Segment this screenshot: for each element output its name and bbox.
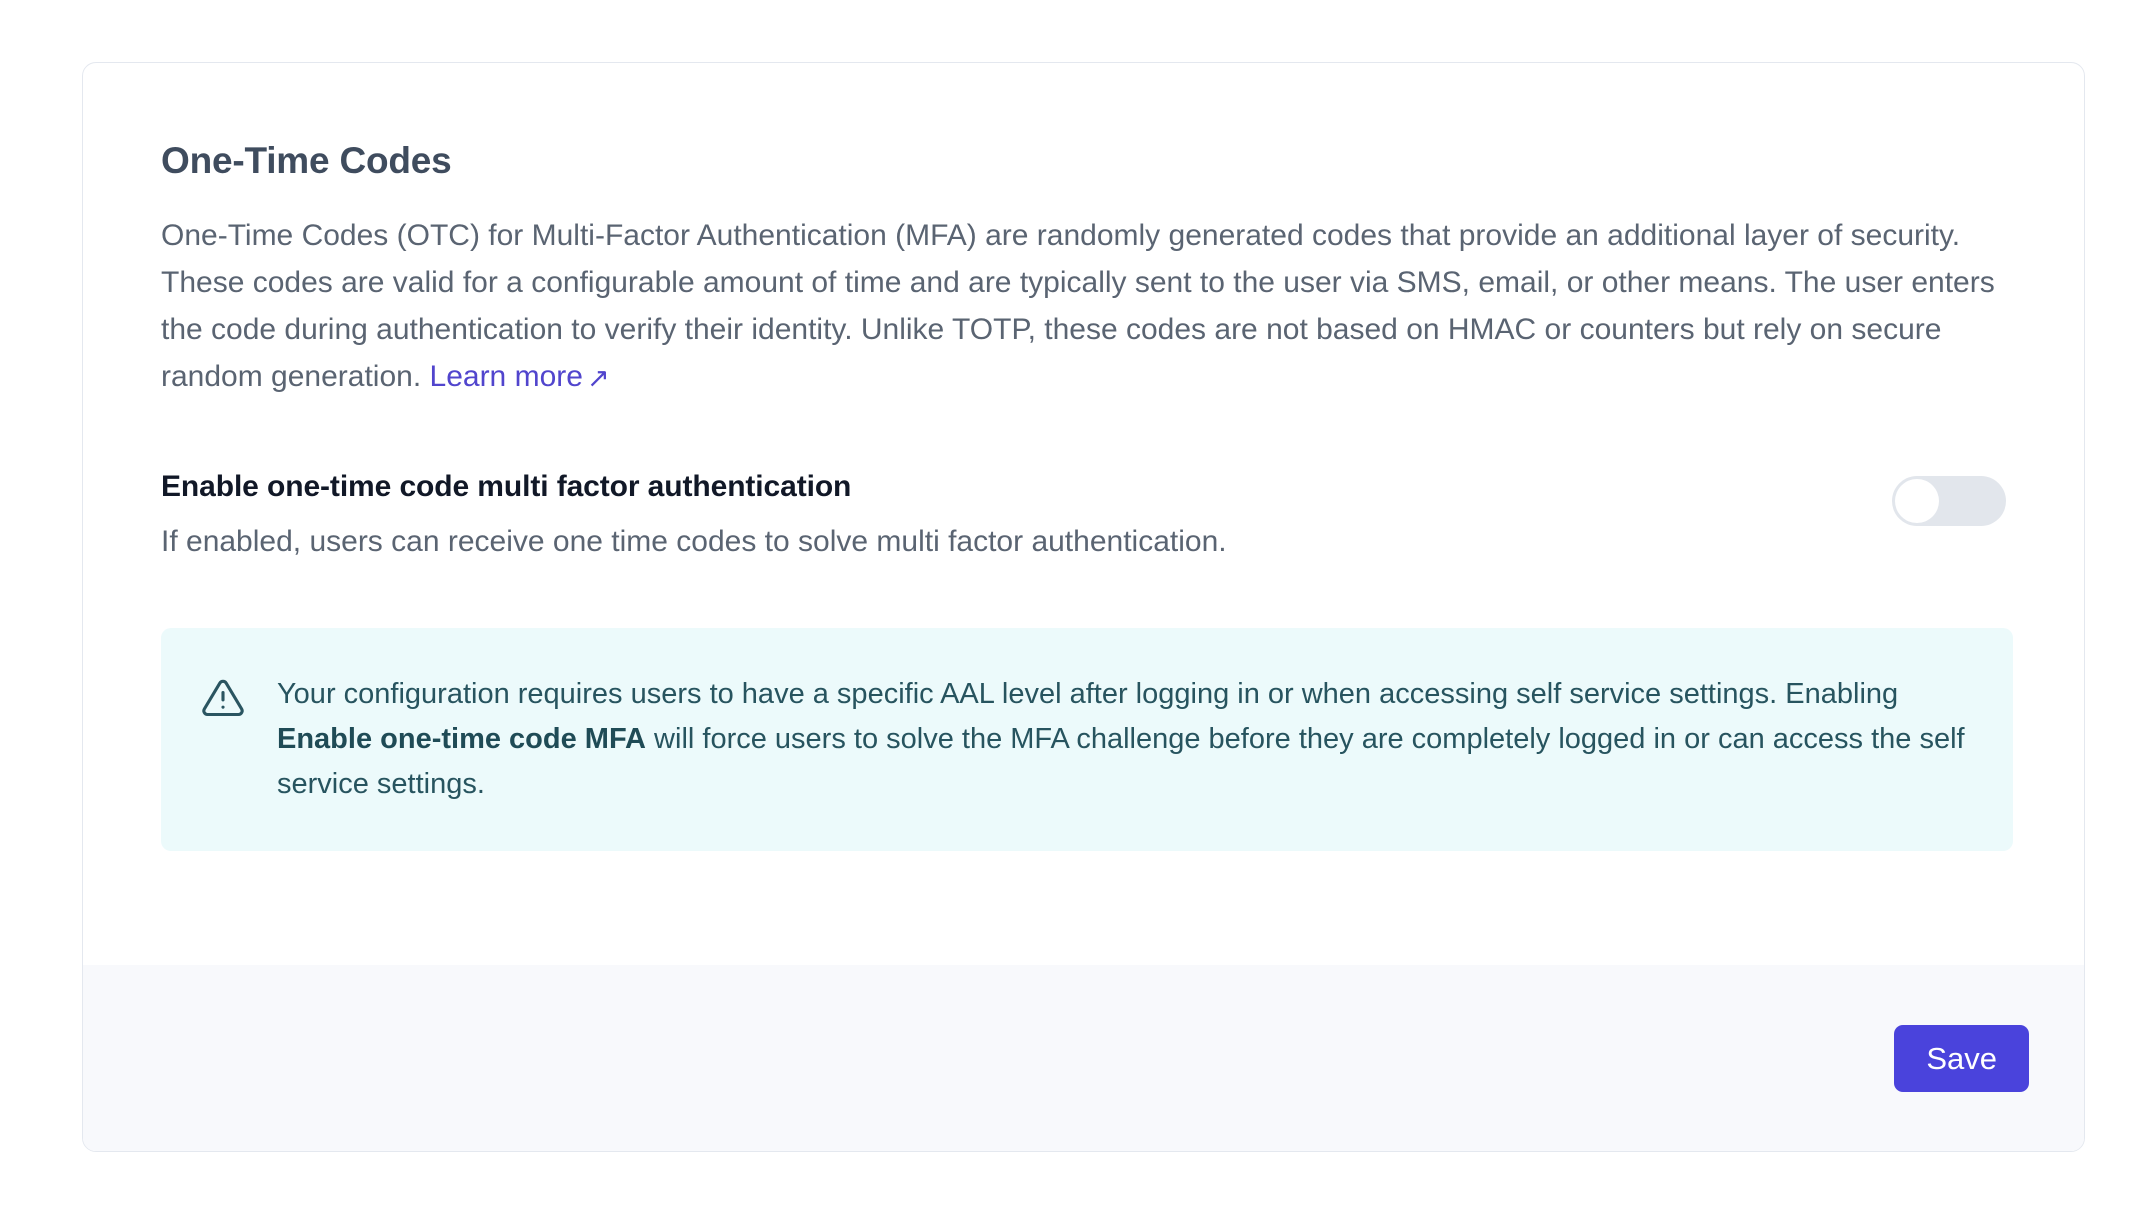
page-title: One-Time Codes xyxy=(161,141,2006,182)
card-body: One-Time Codes One-Time Codes (OTC) for … xyxy=(83,63,2084,965)
callout-text: Your configuration requires users to hav… xyxy=(277,672,1967,807)
learn-more-label: Learn more xyxy=(430,360,583,393)
aal-warning-callout: Your configuration requires users to hav… xyxy=(161,628,2013,851)
otc-setting-row: Enable one-time code multi factor authen… xyxy=(161,468,2006,562)
intro-paragraph: One-Time Codes (OTC) for Multi-Factor Au… xyxy=(161,212,2006,400)
external-link-arrow-icon: ↗ xyxy=(587,365,610,392)
one-time-codes-card: One-Time Codes One-Time Codes (OTC) for … xyxy=(82,62,2085,1152)
page-root: One-Time Codes One-Time Codes (OTC) for … xyxy=(0,0,2146,1218)
otc-setting-texts: Enable one-time code multi factor authen… xyxy=(161,468,1227,562)
callout-text-bold: Enable one-time code MFA xyxy=(277,723,646,755)
card-footer: Save xyxy=(83,965,2084,1151)
save-button[interactable]: Save xyxy=(1894,1025,2029,1092)
warning-triangle-icon xyxy=(201,676,245,720)
otc-setting-description: If enabled, users can receive one time c… xyxy=(161,522,1227,561)
otc-setting-label: Enable one-time code multi factor authen… xyxy=(161,468,1227,506)
toggle-knob xyxy=(1895,479,1939,523)
callout-text-part1: Your configuration requires users to hav… xyxy=(277,678,1898,710)
learn-more-link[interactable]: Learn more↗ xyxy=(430,360,610,393)
enable-otc-mfa-toggle[interactable] xyxy=(1892,476,2006,526)
